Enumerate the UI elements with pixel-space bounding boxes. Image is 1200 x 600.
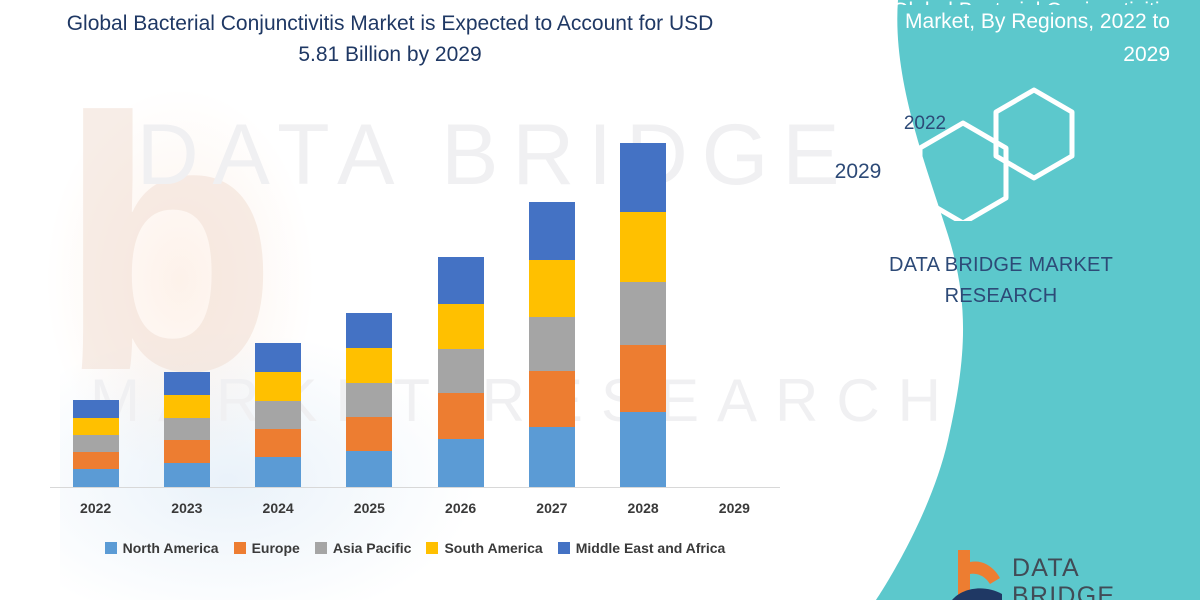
legend-label: Asia Pacific bbox=[333, 540, 412, 556]
bar-slot bbox=[141, 120, 232, 487]
data-bridge-logo: DATA BRIDGE MARKET RESEARCH bbox=[950, 544, 1180, 600]
logo-text-block: DATA BRIDGE MARKET RESEARCH bbox=[1012, 544, 1180, 600]
bar-segment[interactable] bbox=[438, 349, 484, 393]
bar-slot bbox=[415, 120, 506, 487]
bar-segment[interactable] bbox=[438, 257, 484, 304]
hexagon-label-2022: 2022 bbox=[882, 113, 968, 135]
legend-swatch-icon bbox=[426, 542, 438, 554]
legend-item[interactable]: South America bbox=[426, 540, 542, 556]
legend-label: North America bbox=[123, 540, 219, 556]
bar-stack[interactable] bbox=[73, 400, 119, 487]
bar-segment[interactable] bbox=[164, 463, 210, 487]
bar-segment[interactable] bbox=[164, 418, 210, 440]
bar-segment[interactable] bbox=[346, 417, 392, 451]
bar-segment[interactable] bbox=[620, 345, 666, 412]
bar-segment[interactable] bbox=[346, 348, 392, 383]
legend-swatch-icon bbox=[105, 542, 117, 554]
bar-segment[interactable] bbox=[620, 143, 666, 212]
legend-item[interactable]: Middle East and Africa bbox=[558, 540, 726, 556]
legend-label: Europe bbox=[252, 540, 300, 556]
panel-heading-line-2: 2029 bbox=[1123, 43, 1170, 66]
x-axis-tick-label: 2029 bbox=[689, 500, 780, 516]
panel-heading-clipped-line: Global Bacterial Conjunctivitis bbox=[850, 0, 1170, 5]
bar-stack[interactable] bbox=[529, 202, 575, 487]
legend-item[interactable]: Europe bbox=[234, 540, 300, 556]
bar-stack[interactable] bbox=[255, 343, 301, 487]
bar-segment[interactable] bbox=[255, 457, 301, 487]
bar-stack[interactable] bbox=[438, 257, 484, 487]
bar-segment[interactable] bbox=[255, 372, 301, 401]
bar-slot bbox=[233, 120, 324, 487]
x-axis-tick-label: 2022 bbox=[50, 500, 141, 516]
brand-name-line-1: DATA BRIDGE MARKET bbox=[836, 250, 1166, 281]
logo-text-line-1: DATA BRIDGE bbox=[1012, 554, 1180, 600]
bar-segment[interactable] bbox=[164, 395, 210, 418]
legend-label: South America bbox=[444, 540, 542, 556]
legend-swatch-icon bbox=[234, 542, 246, 554]
chart-area: Global Bacterial Conjunctivitis Market i… bbox=[0, 0, 830, 600]
x-axis-tick-label: 2027 bbox=[506, 500, 597, 516]
legend-swatch-icon bbox=[558, 542, 570, 554]
bar-segment[interactable] bbox=[346, 451, 392, 487]
legend-label: Middle East and Africa bbox=[576, 540, 726, 556]
bar-segment[interactable] bbox=[529, 260, 575, 317]
bar-segment[interactable] bbox=[164, 440, 210, 463]
bar-slot bbox=[506, 120, 597, 487]
x-axis-tick-label: 2026 bbox=[415, 500, 506, 516]
hexagon-badge-group bbox=[906, 86, 1106, 221]
bar-segment[interactable] bbox=[529, 427, 575, 487]
legend-swatch-icon bbox=[315, 542, 327, 554]
bar-stack[interactable] bbox=[620, 143, 666, 487]
bar-slot bbox=[324, 120, 415, 487]
bridge-logo-icon bbox=[950, 544, 1002, 600]
bar-segment[interactable] bbox=[620, 412, 666, 487]
bar-stack[interactable] bbox=[346, 313, 392, 487]
bar-segment[interactable] bbox=[620, 282, 666, 345]
bar-series-container bbox=[50, 120, 780, 487]
bar-segment[interactable] bbox=[529, 202, 575, 260]
bar-segment[interactable] bbox=[438, 439, 484, 487]
bar-segment[interactable] bbox=[255, 343, 301, 372]
x-axis-tick-label: 2023 bbox=[141, 500, 232, 516]
bar-segment[interactable] bbox=[620, 212, 666, 282]
bar-segment[interactable] bbox=[73, 452, 119, 469]
x-axis-tick-label: 2025 bbox=[324, 500, 415, 516]
bar-segment[interactable] bbox=[529, 317, 575, 371]
bar-segment[interactable] bbox=[73, 469, 119, 487]
x-axis-tick-label: 2028 bbox=[598, 500, 689, 516]
panel-heading-line-1: Market, By Regions, 2022 to bbox=[905, 10, 1170, 33]
bar-segment[interactable] bbox=[73, 435, 119, 452]
hexagon-large-2029 bbox=[920, 123, 1006, 221]
bar-slot bbox=[598, 120, 689, 487]
bar-segment[interactable] bbox=[255, 429, 301, 457]
bar-segment[interactable] bbox=[73, 400, 119, 418]
legend-item[interactable]: Asia Pacific bbox=[315, 540, 412, 556]
bar-segment[interactable] bbox=[346, 313, 392, 348]
bar-stack[interactable] bbox=[164, 372, 210, 487]
teal-panel-content: Global Bacterial Conjunctivitis Market, … bbox=[780, 0, 1200, 600]
bar-segment[interactable] bbox=[438, 393, 484, 439]
hexagon-shapes bbox=[906, 86, 1106, 221]
x-axis-line bbox=[50, 487, 780, 488]
bar-segment[interactable] bbox=[438, 304, 484, 349]
x-axis-tick-labels: 20222023202420252026202720282029 bbox=[50, 500, 780, 516]
chart-title: Global Bacterial Conjunctivitis Market i… bbox=[60, 8, 720, 70]
bar-segment[interactable] bbox=[255, 401, 301, 429]
bar-slot bbox=[689, 120, 780, 487]
bar-segment[interactable] bbox=[73, 418, 119, 435]
bar-segment[interactable] bbox=[346, 383, 392, 417]
brand-name: DATA BRIDGE MARKET RESEARCH bbox=[836, 250, 1166, 312]
x-axis-tick-label: 2024 bbox=[233, 500, 324, 516]
bar-segment[interactable] bbox=[164, 372, 210, 395]
legend-item[interactable]: North America bbox=[105, 540, 219, 556]
panel-heading: Global Bacterial Conjunctivitis Market, … bbox=[850, 0, 1170, 71]
brand-name-line-2: RESEARCH bbox=[836, 281, 1166, 312]
bar-segment[interactable] bbox=[529, 371, 575, 427]
bar-slot bbox=[50, 120, 141, 487]
chart-legend: North AmericaEuropeAsia PacificSouth Ame… bbox=[50, 540, 780, 556]
